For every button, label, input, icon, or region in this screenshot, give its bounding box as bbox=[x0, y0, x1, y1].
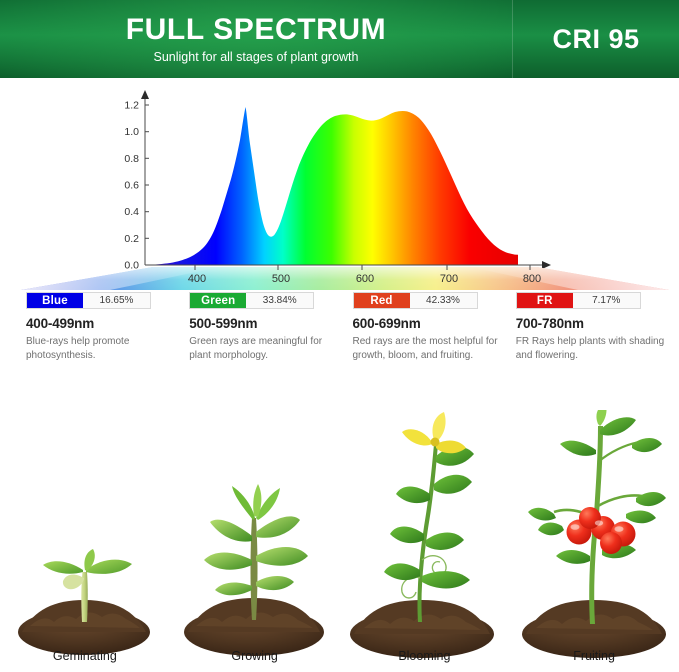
spectrum-chart-svg: 0.0 0.2 0.4 0.6 0.8 1.0 1.2 400 500 600 bbox=[0, 78, 679, 290]
stage-blooming: Blooming bbox=[340, 378, 510, 672]
tomato-highlight bbox=[614, 526, 623, 532]
stage-illustration bbox=[170, 410, 339, 672]
legend-band-fr: FR 7.17% 700-780nm FR Rays help plants w… bbox=[516, 292, 667, 374]
x-tick-label: 500 bbox=[272, 273, 290, 285]
badge-row: Blue 16.65% bbox=[26, 292, 151, 309]
stage-illustration bbox=[510, 410, 679, 672]
cri-block: CRI 95 bbox=[513, 0, 679, 78]
y-tick-label: 0.8 bbox=[124, 153, 139, 165]
tomato-highlight bbox=[594, 520, 602, 525]
header-title-block: FULL SPECTRUM Sunlight for all stages of… bbox=[0, 0, 512, 78]
y-tick-label: 0.0 bbox=[124, 260, 139, 272]
leaf-l-low2 bbox=[538, 523, 564, 536]
page-title: FULL SPECTRUM bbox=[126, 15, 387, 45]
leaf-r-mid2 bbox=[626, 511, 656, 524]
stage-label: Blooming bbox=[340, 650, 510, 663]
stage-illustration bbox=[340, 410, 509, 672]
leaf-l3 bbox=[210, 520, 252, 542]
band-percent: 42.33% bbox=[410, 293, 477, 308]
y-tick-label: 0.2 bbox=[124, 233, 139, 245]
band-description: Green rays are meaningful for plant morp… bbox=[189, 335, 340, 362]
tomato bbox=[579, 507, 601, 529]
seedling-icon bbox=[0, 410, 169, 672]
band-percent: 7.17% bbox=[573, 293, 640, 308]
sapling-icon bbox=[170, 410, 339, 672]
leaf-low-l2 bbox=[556, 550, 590, 564]
stage-geminating: Geminating bbox=[0, 378, 170, 672]
band-range: 400-499nm bbox=[26, 316, 177, 331]
spectrum-curve-group bbox=[145, 107, 518, 265]
flowering-plant-icon bbox=[340, 410, 509, 672]
flower-petal bbox=[402, 429, 432, 445]
leaf-mid-l bbox=[390, 527, 424, 544]
stage-label: Growing bbox=[170, 650, 340, 663]
stage-label: Fruiting bbox=[509, 650, 679, 663]
x-tick-label: 400 bbox=[188, 273, 206, 285]
tomato-plant-icon bbox=[510, 410, 679, 672]
leaf-low-r bbox=[422, 571, 470, 588]
cotyledon-leaf bbox=[63, 574, 84, 589]
leaf-r-mid bbox=[636, 492, 666, 506]
badge-row: FR 7.17% bbox=[516, 292, 641, 309]
band-percent: 16.65% bbox=[83, 293, 150, 308]
band-name-badge: Green bbox=[190, 293, 246, 308]
band-description: FR Rays help plants with shading and flo… bbox=[516, 335, 667, 362]
band-name-badge: FR bbox=[517, 293, 573, 308]
band-range: 500-599nm bbox=[189, 316, 340, 331]
band-description: Red rays are the most helpful for growth… bbox=[353, 335, 504, 362]
leaf-c-up-r bbox=[600, 417, 636, 435]
tendril-2 bbox=[402, 577, 420, 598]
leaf-l-low bbox=[528, 508, 556, 521]
tomato bbox=[600, 532, 622, 554]
y-tick-label: 1.2 bbox=[124, 100, 139, 112]
spectrum-curve-fill bbox=[145, 107, 518, 265]
leaf-up-r bbox=[434, 475, 472, 494]
leaf-c-up-l bbox=[560, 441, 596, 456]
y-tick-label: 0.4 bbox=[124, 206, 139, 218]
y-axis-ticks bbox=[145, 105, 149, 265]
y-axis-arrow bbox=[141, 90, 149, 99]
cri-value: CRI 95 bbox=[552, 24, 639, 55]
stage-growing: Growing bbox=[170, 378, 340, 672]
y-tick-label: 0.6 bbox=[124, 180, 139, 192]
stage-fruiting: Fruiting bbox=[509, 378, 679, 672]
leaf-top bbox=[596, 410, 606, 426]
page-header: FULL SPECTRUM Sunlight for all stages of… bbox=[0, 0, 679, 78]
legend-band-green: Green 33.84% 500-599nm Green rays are me… bbox=[189, 292, 340, 374]
leaf-r3 bbox=[256, 516, 300, 537]
flower-petal bbox=[432, 412, 445, 442]
leaf-mid-r bbox=[426, 533, 464, 550]
tomato-highlight bbox=[570, 524, 579, 530]
band-range: 700-780nm bbox=[516, 316, 667, 331]
x-tick-label: 600 bbox=[356, 273, 374, 285]
spectrum-chart: 0.0 0.2 0.4 0.6 0.8 1.0 1.2 400 500 600 bbox=[0, 78, 679, 290]
flower-center bbox=[430, 438, 439, 447]
badge-row: Red 42.33% bbox=[353, 292, 478, 309]
x-tick-label: 700 bbox=[440, 273, 458, 285]
leaf-top-l bbox=[232, 486, 255, 520]
growth-stages: Geminating bbox=[0, 378, 679, 672]
x-axis-arrow bbox=[542, 261, 551, 269]
leaf-r1 bbox=[256, 576, 294, 590]
leaf-low-l bbox=[384, 563, 420, 580]
spectrum-band bbox=[21, 267, 669, 290]
stage-illustration bbox=[0, 410, 169, 672]
legend-band-blue: Blue 16.65% 400-499nm Blue-rays help pro… bbox=[26, 292, 177, 374]
badge-row: Green 33.84% bbox=[189, 292, 314, 309]
band-range: 600-699nm bbox=[353, 316, 504, 331]
band-percent: 33.84% bbox=[246, 293, 313, 308]
leaf-r2 bbox=[256, 547, 308, 566]
band-description: Blue-rays help promote photosynthesis. bbox=[26, 335, 177, 362]
page-subtitle: Sunlight for all stages of plant growth bbox=[154, 51, 359, 64]
band-name-badge: Blue bbox=[27, 293, 83, 308]
branch-r bbox=[598, 495, 642, 506]
y-axis-tick-labels: 0.0 0.2 0.4 0.6 0.8 1.0 1.2 bbox=[124, 100, 139, 272]
legend-band-red: Red 42.33% 600-699nm Red rays are the mo… bbox=[353, 292, 504, 374]
leaf-left bbox=[43, 561, 83, 573]
x-tick-label: 800 bbox=[523, 273, 541, 285]
leaf-l1 bbox=[215, 583, 252, 596]
leaf-r-up bbox=[632, 438, 662, 452]
y-tick-label: 1.0 bbox=[124, 126, 139, 138]
band-name-badge: Red bbox=[354, 293, 410, 308]
leaf-up-l bbox=[396, 487, 430, 504]
spectrum-legend: Blue 16.65% 400-499nm Blue-rays help pro… bbox=[0, 292, 679, 374]
leaf-l2 bbox=[204, 553, 252, 570]
stage-label: Geminating bbox=[0, 650, 170, 663]
